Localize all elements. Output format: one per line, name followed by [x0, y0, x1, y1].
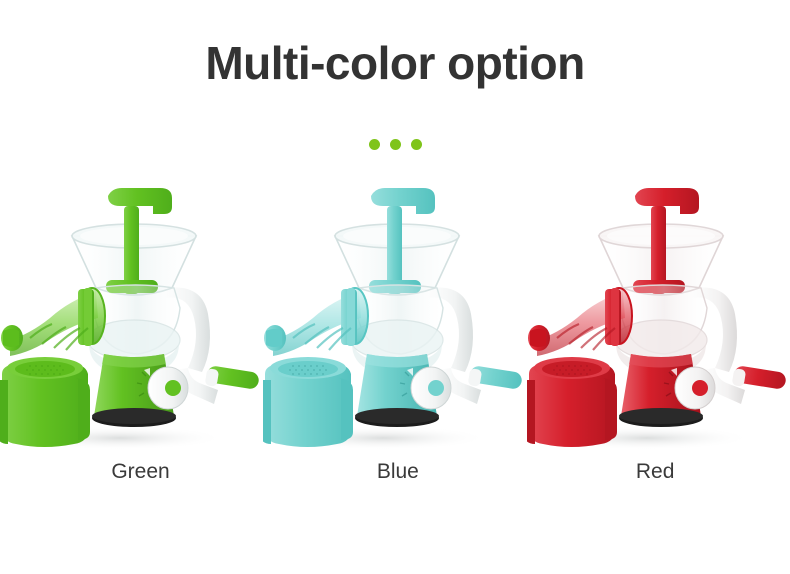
- product-variant-label-red: Red: [524, 460, 787, 484]
- product-variant-label-green: Green: [9, 460, 272, 484]
- product-variant-green[interactable]: Green: [0, 188, 263, 508]
- manual-juicer-blue-image: [263, 188, 526, 456]
- decorative-dot-1: [369, 139, 380, 150]
- manual-juicer-green-image: [0, 188, 263, 456]
- product-variant-row: Green: [0, 188, 790, 508]
- product-variant-blue[interactable]: Blue: [263, 188, 526, 508]
- decorative-dots: [0, 139, 790, 150]
- product-color-options-banner: Multi-color option: [0, 0, 790, 574]
- manual-juicer-red-image: [527, 188, 790, 456]
- product-variant-red[interactable]: Red: [527, 188, 790, 508]
- product-variant-label-blue: Blue: [266, 460, 529, 484]
- decorative-dot-3: [411, 139, 422, 150]
- decorative-dot-2: [390, 139, 401, 150]
- page-title: Multi-color option: [0, 38, 790, 89]
